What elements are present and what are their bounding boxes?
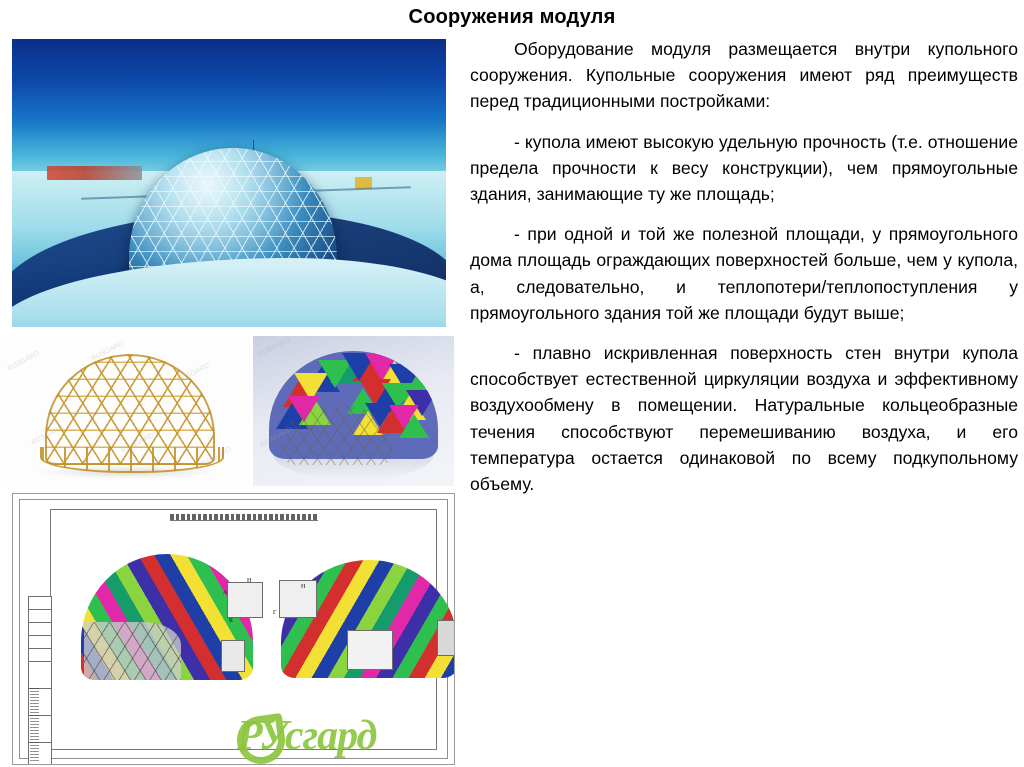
watermark-text: RUSGARD xyxy=(6,350,40,373)
dome-label-k: К xyxy=(229,618,233,624)
dome-label-a: А xyxy=(223,590,227,596)
drawing-title-block xyxy=(28,596,52,765)
title-block-row xyxy=(29,662,51,689)
paragraph-2: - купола имеют высокую удельную прочност… xyxy=(470,129,1018,208)
title-block-row xyxy=(29,597,51,610)
technical-drawing-sheet: А К Н Н Г РУсгард xyxy=(12,493,455,765)
dome-label-n2: Н xyxy=(301,584,305,590)
body-text-column: Оборудование модуля размещается внутри к… xyxy=(470,36,1018,497)
dome-window-right xyxy=(347,630,393,670)
page-title: Сооружения модуля xyxy=(0,6,1024,29)
watermark-text: RUSGARD xyxy=(257,336,291,359)
dome-porch-right xyxy=(279,580,317,618)
paragraph-4: - плавно искривленная поверхность стен в… xyxy=(470,340,1018,497)
slide-canvas: Сооружения модуля RUSGARD RUSGARD RUSGAR… xyxy=(0,0,1024,767)
dome-label-g: Г xyxy=(273,610,276,616)
drawing-inner-border: А К Н Н Г РУсгард xyxy=(19,499,448,759)
dome-door-right xyxy=(437,620,455,656)
title-block-row xyxy=(29,636,51,649)
rusgard-watermark: РУсгард xyxy=(237,712,376,760)
paragraph-3: - при одной и той же полезной площади, у… xyxy=(470,221,1018,326)
colored-panel-dome-render: RUSGARD RUSGARD xyxy=(253,336,454,486)
antarctic-dome-photo xyxy=(12,39,446,327)
drawing-frame: А К Н Н Г РУсгард xyxy=(50,509,437,750)
wooden-frame-dome-render: RUSGARD RUSGARD RUSGARD RUSGARD RUSGARD … xyxy=(0,336,250,486)
paragraph-1: Оборудование модуля размещается внутри к… xyxy=(470,36,1018,115)
media-column: RUSGARD RUSGARD RUSGARD RUSGARD RUSGARD … xyxy=(0,36,460,767)
title-block-row xyxy=(29,623,51,636)
title-block-row xyxy=(29,649,51,662)
panel-triangle xyxy=(389,405,419,429)
dome-label-n: Н xyxy=(247,578,251,584)
dome-porch-left xyxy=(227,582,263,618)
drawing-header-text xyxy=(170,514,318,521)
title-block-row xyxy=(29,610,51,623)
dome-door-left xyxy=(221,640,245,672)
title-block-vertical-text xyxy=(30,687,39,761)
horizon-buildings xyxy=(47,166,142,180)
